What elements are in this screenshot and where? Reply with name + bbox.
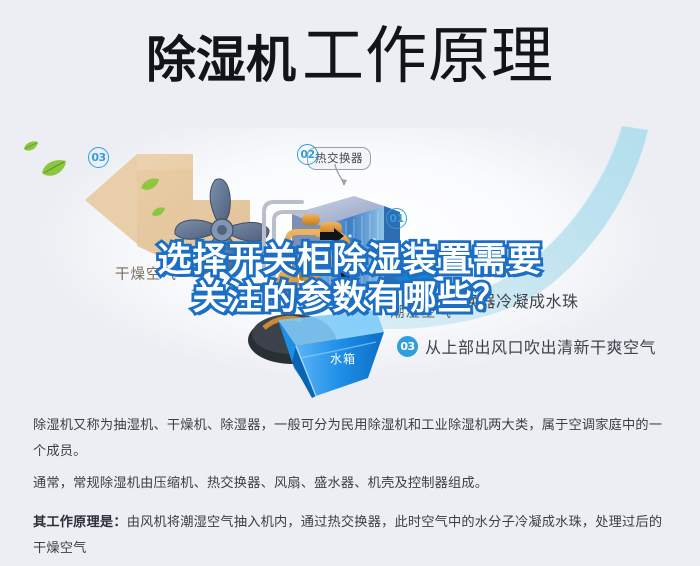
bullet-badge-02: 02: [402, 290, 423, 311]
label-water-tank: 水箱: [330, 350, 356, 367]
paragraph-3-label: 其工作原理是：: [33, 515, 127, 530]
title-band: 除湿机工作原理: [0, 0, 700, 118]
badge-step-03: 03: [88, 147, 109, 168]
page-root: 除湿机工作原理: [0, 0, 700, 566]
label-dry-air: 干燥空气: [115, 263, 177, 284]
callout-tail-icon: [333, 163, 347, 185]
paragraph-2: 通常，常规除湿机由压缩机、热交换器、风扇、盛水器、机壳及控制器组成。: [33, 471, 673, 497]
bullet-step-03: 03 从上部出风口吹出清新干爽空气: [397, 334, 656, 358]
bullet-step-02: 02 热交换器冷凝成水珠: [402, 288, 579, 312]
leaf-icon: [41, 159, 67, 185]
paragraph-3-text: 由风机将潮湿空气抽入机内，通过热交换器，此时空气中的水分子冷凝成水珠，处理过后的…: [33, 515, 662, 556]
paragraph-3: 其工作原理是：由风机将潮湿空气抽入机内，通过热交换器，此时空气中的水分子冷凝成水…: [33, 510, 673, 561]
leaf-icon: [23, 140, 39, 159]
badge-step-01: 01: [386, 208, 407, 229]
dehumidifier-diagram: 热交换器: [0, 118, 700, 410]
title-part-2: 工作原理: [302, 22, 554, 91]
leaf-icon: [140, 177, 160, 198]
badge-step-02: 02: [297, 144, 318, 165]
bullet-text-03: 从上部出风口吹出清新干爽空气: [425, 334, 656, 358]
page-title: 除湿机工作原理: [0, 26, 700, 88]
bullet-text-02: 热交换器冷凝成水珠: [430, 288, 579, 312]
paragraph-1: 除湿机又称为抽湿机、干燥机、除湿器，一般可分为民用除湿机和工业除湿机两大类，属于…: [33, 413, 673, 464]
article-body: 除湿机又称为抽湿机、干燥机、除湿器，一般可分为民用除湿机和工业除湿机两大类，属于…: [33, 413, 673, 566]
bullet-badge-03: 03: [397, 336, 418, 357]
title-part-1: 除湿机: [146, 32, 296, 88]
